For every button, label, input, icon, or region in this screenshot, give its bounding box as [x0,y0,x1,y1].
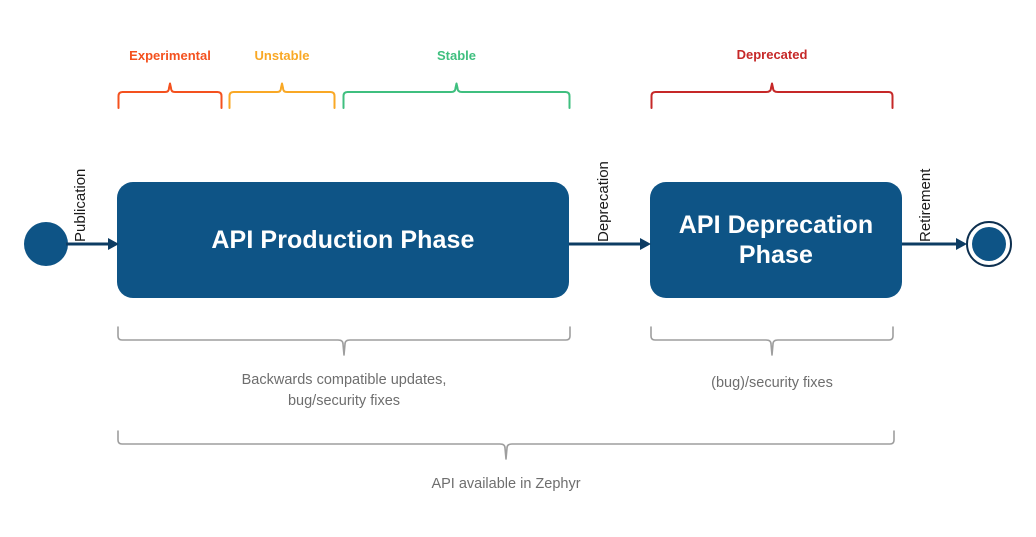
deprecated-brace [650,82,894,108]
production-support-brace [117,326,571,356]
api-production-phase-label: API Production Phase [211,225,474,256]
transition-label-deprecation: Deprecation [595,161,612,242]
deprecation-support-label: (bug)/security fixes [650,373,894,394]
api-deprecation-phase-box[interactable]: API Deprecation Phase [650,182,902,298]
availability-label: API available in Zephyr [117,474,895,495]
api-production-phase-box[interactable]: API Production Phase [117,182,569,298]
final-state-node [966,221,1012,267]
availability-brace [117,430,895,460]
retirement-arrow [902,234,968,254]
initial-state-node [24,222,68,266]
deprecation-support-brace [650,326,894,356]
bracket-label-unstable: Unstable [228,48,336,63]
experimental-brace [117,82,223,108]
api-lifecycle-diagram: Experimental Unstable Stable Deprecated … [0,0,1036,537]
api-deprecation-phase-label: API Deprecation Phase [664,210,888,271]
stable-brace [342,82,571,108]
bracket-label-experimental: Experimental [117,48,223,63]
transition-label-retirement: Retirement [917,169,934,242]
bracket-label-deprecated: Deprecated [650,47,894,62]
unstable-brace [228,82,336,108]
transition-label-publication: Publication [72,169,89,242]
production-support-label: Backwards compatible updates, bug/securi… [117,370,571,411]
bracket-label-stable: Stable [342,48,571,63]
